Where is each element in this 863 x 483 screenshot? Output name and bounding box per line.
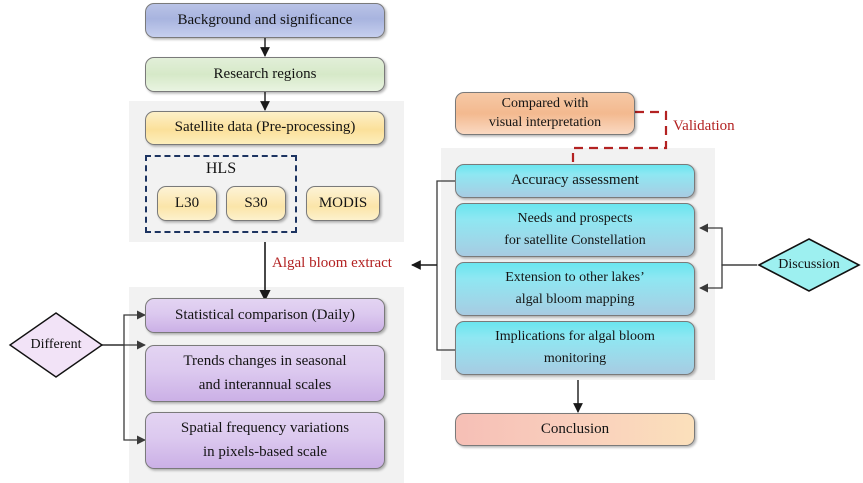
node-extension-other-lakes[interactable]: Extension to other lakes’ algal bloom ma…	[455, 262, 695, 316]
node-label-line2: algal bloom mapping	[462, 289, 688, 311]
node-label: Satellite data (Pre-processing)	[152, 116, 378, 139]
node-label: L30	[164, 192, 210, 215]
node-label-line1: Spatial frequency variations	[152, 417, 378, 440]
node-label: S30	[233, 192, 279, 215]
node-implications-monitoring[interactable]: Implications for algal bloom monitoring	[455, 321, 695, 375]
node-satellite-data[interactable]: Satellite data (Pre-processing)	[145, 111, 385, 145]
node-label-line1: Trends changes in seasonal	[152, 350, 378, 373]
flowchart-canvas: Background and significance Research reg…	[0, 0, 863, 483]
node-label: Research regions	[152, 63, 378, 86]
node-compared-with-visual-interpretation[interactable]: Compared with visual interpretation	[455, 92, 635, 135]
node-label-line2: monitoring	[462, 348, 688, 370]
node-modis[interactable]: MODIS	[306, 186, 380, 221]
node-label-line1: Needs and prospects	[462, 208, 688, 230]
decision-discussion[interactable]: Discussion	[757, 237, 861, 293]
node-label: Statistical comparison (Daily)	[152, 304, 378, 327]
node-research-regions[interactable]: Research regions	[145, 57, 385, 92]
decision-label: Discussion	[778, 257, 839, 273]
node-label-line1: Compared with	[462, 95, 628, 114]
node-label: Background and significance	[152, 9, 378, 32]
node-background-and-significance[interactable]: Background and significance	[145, 3, 385, 38]
node-label-line1: Implications for algal bloom	[462, 326, 688, 348]
node-statistical-comparison[interactable]: Statistical comparison (Daily)	[145, 298, 385, 333]
node-label-line2: for satellite Constellation	[462, 230, 688, 252]
node-s30[interactable]: S30	[226, 186, 286, 221]
node-label-line1: Extension to other lakes’	[462, 267, 688, 289]
annotation-validation: Validation	[673, 118, 735, 135]
node-label: MODIS	[313, 192, 373, 215]
node-l30[interactable]: L30	[157, 186, 217, 221]
node-spatial-frequency[interactable]: Spatial frequency variations in pixels-b…	[145, 412, 385, 469]
annotation-algal-bloom-extract: Algal bloom extract	[272, 255, 392, 272]
node-label-line2: in pixels-based scale	[152, 441, 378, 464]
node-conclusion[interactable]: Conclusion	[455, 413, 695, 446]
node-needs-and-prospects[interactable]: Needs and prospects for satellite Conste…	[455, 203, 695, 257]
decision-different[interactable]: Different	[8, 311, 104, 379]
node-label: Conclusion	[462, 418, 688, 441]
node-label-line2: visual interpretation	[462, 114, 628, 133]
node-label: Accuracy assessment	[462, 169, 688, 192]
node-trends-changes[interactable]: Trends changes in seasonal and interannu…	[145, 345, 385, 402]
hls-group-label: HLS	[145, 160, 297, 178]
decision-label: Different	[30, 337, 81, 353]
node-accuracy-assessment[interactable]: Accuracy assessment	[455, 164, 695, 198]
node-label-line2: and interannual scales	[152, 374, 378, 397]
